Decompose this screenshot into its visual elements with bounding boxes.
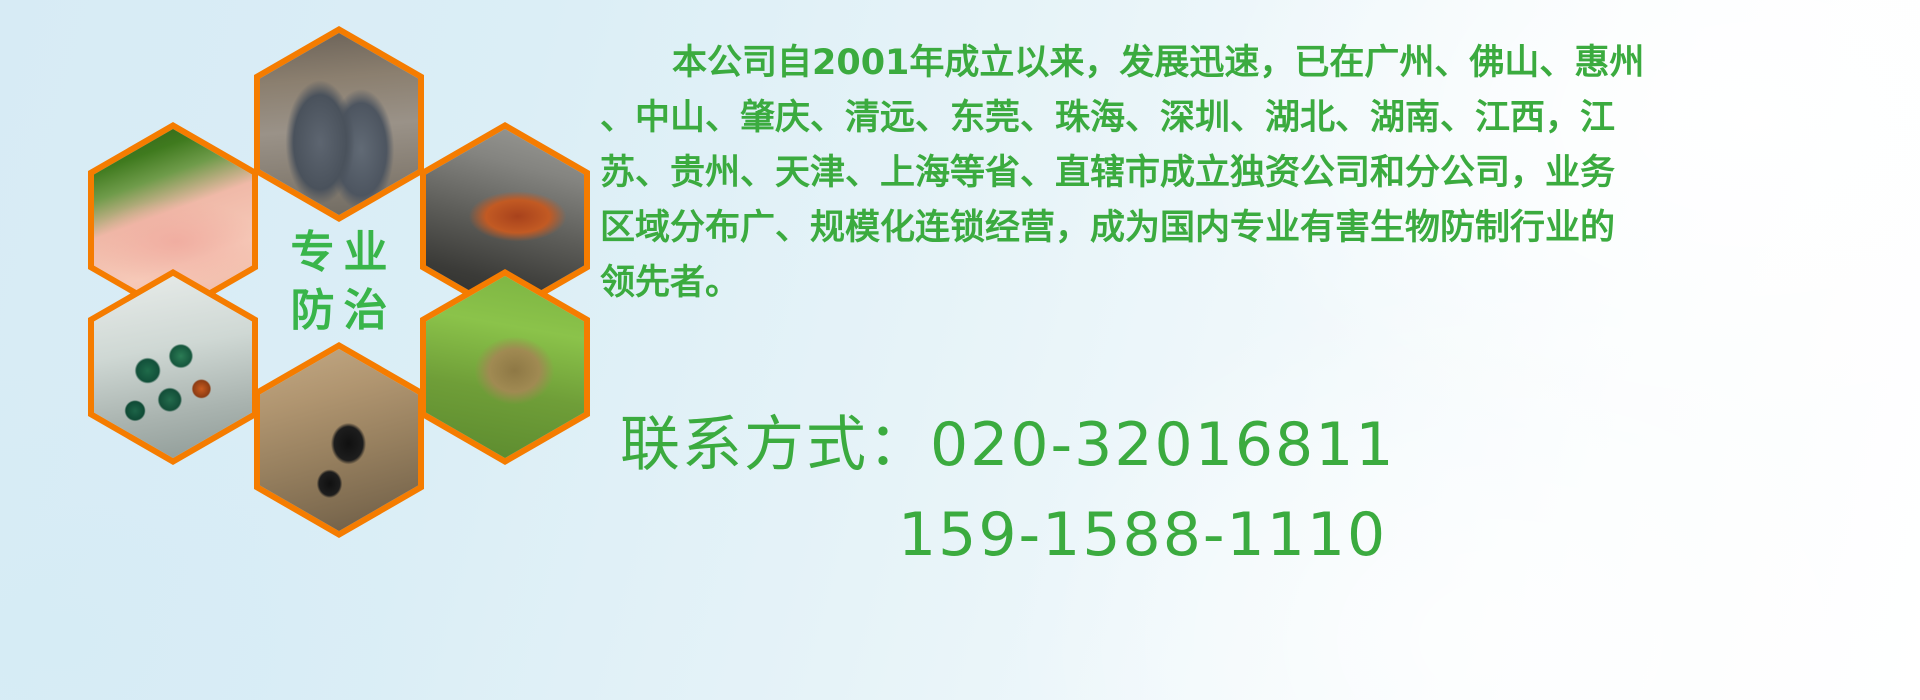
- stinkbug-photo: [426, 276, 584, 458]
- center-label-line2: 防治: [282, 287, 397, 335]
- contact-phone-primary[interactable]: 联系方式：020-32016811: [620, 400, 1920, 490]
- hex-cell-center-label: 专业 防治: [254, 184, 424, 380]
- hex-cell-flies: [88, 269, 258, 465]
- hex-photo-stinkbug: [426, 276, 584, 458]
- description-line-5: 领先者。: [600, 256, 1900, 311]
- hex-photo-flies: [94, 276, 252, 458]
- description-line-2: 、中山、肇庆、清远、东莞、珠海、深圳、湖北、湖南、江西，江: [600, 91, 1900, 146]
- flies-photo: [94, 276, 252, 458]
- honeycomb-image-cluster: 专业 防治: [88, 4, 588, 560]
- promotional-banner: 专业 防治 本公司自2001年成立以来，发展迅速，已在广州、佛山、惠州 、中山、…: [0, 0, 1920, 700]
- description-line-3: 苏、贵州、天津、上海等省、直辖市成立独资公司和分公司，业务: [600, 146, 1900, 201]
- company-description: 本公司自2001年成立以来，发展迅速，已在广州、佛山、惠州 、中山、肇庆、清远、…: [600, 36, 1900, 311]
- description-line-4: 区域分布广、规模化连锁经营，成为国内专业有害生物防制行业的: [600, 201, 1900, 256]
- contact-phone-secondary[interactable]: 159-1588-1110: [620, 490, 1920, 580]
- hex-cell-stinkbug: [420, 269, 590, 465]
- contact-block: 联系方式：020-32016811 159-1588-1110: [620, 400, 1920, 580]
- description-line-1: 本公司自2001年成立以来，发展迅速，已在广州、佛山、惠州: [600, 36, 1900, 91]
- center-label-line1: 专业: [282, 229, 397, 277]
